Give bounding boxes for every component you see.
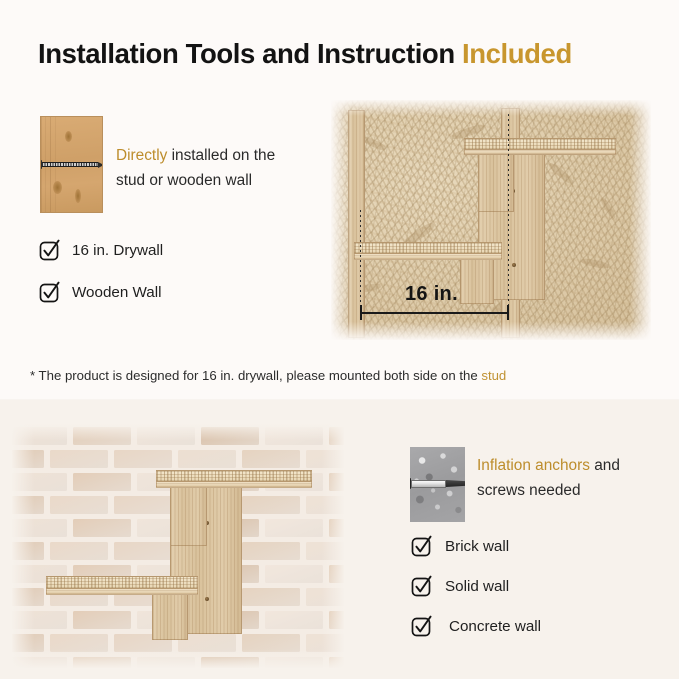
checklist-label: Wooden Wall <box>72 284 161 301</box>
promo-image-root: Installation Tools and Instruction Inclu… <box>0 0 679 679</box>
osb-stud-wall-shelf-photo: 16 in. <box>331 100 651 340</box>
checkbox-checked-icon <box>410 534 435 559</box>
checkbox-checked-icon <box>38 280 63 305</box>
shelf-edge-lower <box>46 588 198 595</box>
dimension-guide-left <box>360 210 361 308</box>
shelf-bracket-upper <box>170 484 207 546</box>
concrete-block-with-anchor-icon <box>410 447 465 522</box>
top-lead-text: Directly installed on the stud or wooden… <box>116 143 296 193</box>
checklist-label: Solid wall <box>445 578 509 595</box>
shelf-edge-upper <box>464 149 616 155</box>
checklist-label: 16 in. Drywall <box>72 242 163 259</box>
page-title-plain: Installation Tools and Instruction <box>38 38 455 69</box>
checkbox-checked-icon <box>38 238 63 263</box>
shelf-edge-lower <box>354 253 502 260</box>
checkbox-checked-icon <box>410 574 435 599</box>
shelf-bracket-lower <box>152 592 188 640</box>
footnote: * The product is designed for 16 in. dry… <box>30 368 506 383</box>
wood-board-with-screw-icon <box>40 116 103 213</box>
dimension-cap-left <box>360 305 362 320</box>
bottom-lead-text: Inflation anchors and screws needed <box>477 453 655 503</box>
dimension-label: 16 in. <box>405 283 458 306</box>
top-lead-accent: Directly <box>116 147 167 164</box>
brick-wall-shelf-photo <box>12 424 344 668</box>
checklist-label: Concrete wall <box>449 618 541 635</box>
dimension-cap-right <box>507 305 509 320</box>
dimension-guide-right <box>508 114 509 308</box>
checklist-item-drywall: 16 in. Drywall <box>38 238 163 263</box>
footnote-plain: * The product is designed for 16 in. dry… <box>30 368 481 383</box>
checklist-item-brick-wall: Brick wall <box>410 534 509 559</box>
checklist-item-solid-wall: Solid wall <box>410 574 509 599</box>
shelf-bracket-lower <box>460 258 494 304</box>
shelf-edge-upper <box>156 481 312 488</box>
checklist-item-wooden-wall: Wooden Wall <box>38 280 161 305</box>
stud-left <box>348 110 365 338</box>
screw-glyph <box>40 160 103 169</box>
page-title: Installation Tools and Instruction Inclu… <box>38 38 572 70</box>
checkbox-checked-icon <box>410 614 435 639</box>
bottom-lead-accent: Inflation anchors <box>477 457 590 474</box>
checklist-label: Brick wall <box>445 538 509 555</box>
checklist-item-concrete-wall: Concrete wall <box>410 614 541 639</box>
inflation-anchor-glyph <box>410 478 465 489</box>
page-title-accent: Included <box>462 38 572 69</box>
dimension-line <box>360 312 509 314</box>
footnote-accent: stud <box>481 368 506 383</box>
